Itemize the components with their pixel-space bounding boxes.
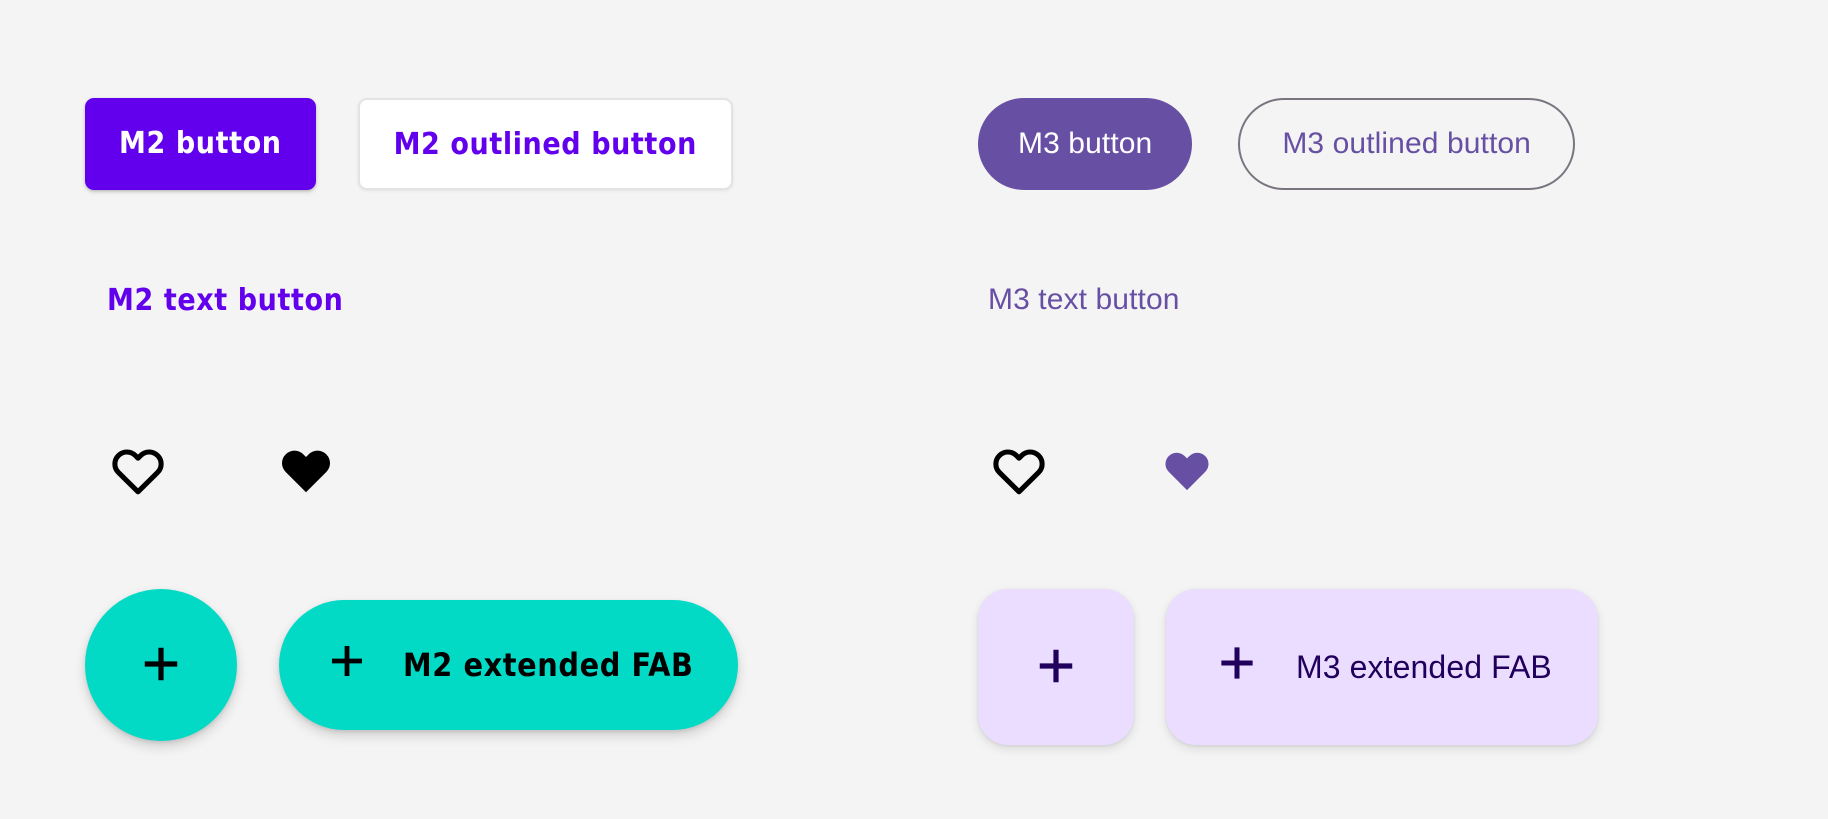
m2-contained-button[interactable]: M2 button: [85, 98, 316, 190]
m2-heart-filled-icon-button[interactable]: [273, 438, 339, 504]
m2-extended-fab-label: M2 extended FAB: [403, 646, 694, 684]
m2-icon-button-row: [105, 438, 339, 504]
heart-outline-icon: [109, 442, 167, 500]
heart-filled-icon: [1161, 445, 1213, 497]
m3-fab-row: M3 extended FAB: [978, 589, 1598, 745]
plus-icon: [135, 638, 187, 693]
m2-fab-button[interactable]: [85, 589, 237, 741]
m3-contained-button[interactable]: M3 button: [978, 98, 1192, 190]
plus-icon: [323, 637, 371, 693]
m3-extended-fab-label: M3 extended FAB: [1296, 649, 1552, 686]
m3-icon-button-row: [986, 438, 1220, 504]
m2-column: M2 button M2 outlined button M2 text but…: [85, 0, 885, 819]
plus-icon: [1212, 638, 1262, 696]
m2-text-button-row: M2 text button: [85, 283, 343, 318]
heart-filled-icon: [277, 442, 335, 500]
m3-text-button-row: M3 text button: [978, 283, 1180, 317]
m2-button-row: M2 button M2 outlined button: [85, 98, 733, 190]
m3-button-row: M3 button M3 outlined button: [978, 98, 1575, 190]
m3-text-button[interactable]: M3 text button: [988, 283, 1180, 317]
m3-column: M3 button M3 outlined button M3 text but…: [978, 0, 1778, 819]
m2-fab-row: M2 extended FAB: [85, 589, 738, 741]
m2-heart-outline-icon-button[interactable]: [105, 438, 171, 504]
m3-fab-button[interactable]: [978, 589, 1134, 745]
m3-outlined-button[interactable]: M3 outlined button: [1238, 98, 1575, 190]
m3-extended-fab-button[interactable]: M3 extended FAB: [1166, 589, 1598, 745]
m2-outlined-button[interactable]: M2 outlined button: [358, 98, 733, 190]
plus-icon: [1030, 640, 1082, 695]
m2-extended-fab-button[interactable]: M2 extended FAB: [279, 600, 738, 730]
heart-outline-icon: [990, 442, 1048, 500]
m3-heart-outline-icon-button[interactable]: [986, 438, 1052, 504]
m2-text-button[interactable]: M2 text button: [107, 283, 343, 318]
m3-heart-filled-icon-button[interactable]: [1154, 438, 1220, 504]
component-comparison-stage: M2 button M2 outlined button M2 text but…: [0, 0, 1828, 819]
